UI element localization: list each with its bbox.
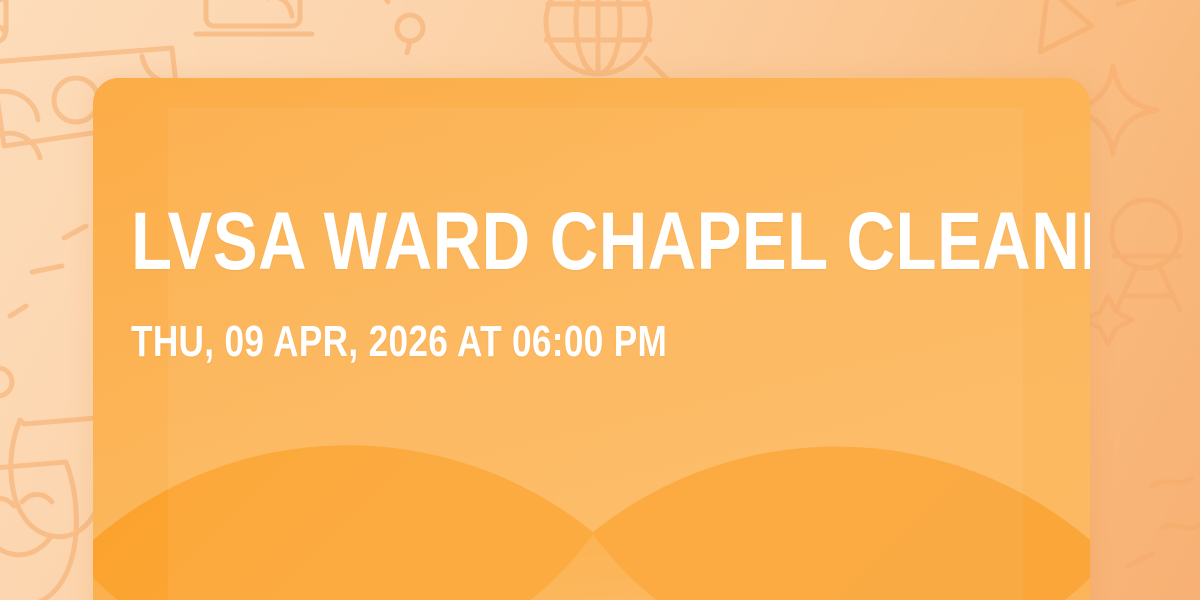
microphone-icon xyxy=(1112,200,1180,310)
theater-masks-icon xyxy=(0,418,105,600)
balloon-icon xyxy=(382,0,423,53)
party-popper-icon xyxy=(1040,0,1136,52)
globe-icon xyxy=(546,0,676,88)
event-card[interactable]: LVSA Ward Chapel Cleaning Thu, 09 Apr, 2… xyxy=(93,78,1090,600)
event-title: LVSA Ward Chapel Cleaning xyxy=(131,204,885,279)
balloon-icon xyxy=(0,368,12,396)
event-datetime: Thu, 09 Apr, 2026 at 06:00 PM xyxy=(131,320,867,364)
sparkle-icon xyxy=(1084,296,1132,344)
card-text-block: LVSA Ward Chapel Cleaning Thu, 09 Apr, 2… xyxy=(131,204,1051,364)
confetti-icon xyxy=(10,226,86,316)
presentation-icon xyxy=(196,0,312,34)
event-banner: LVSA Ward Chapel Cleaning Thu, 09 Apr, 2… xyxy=(0,0,1200,600)
music-note-icon xyxy=(0,0,6,42)
confetti-icon xyxy=(1128,478,1200,566)
